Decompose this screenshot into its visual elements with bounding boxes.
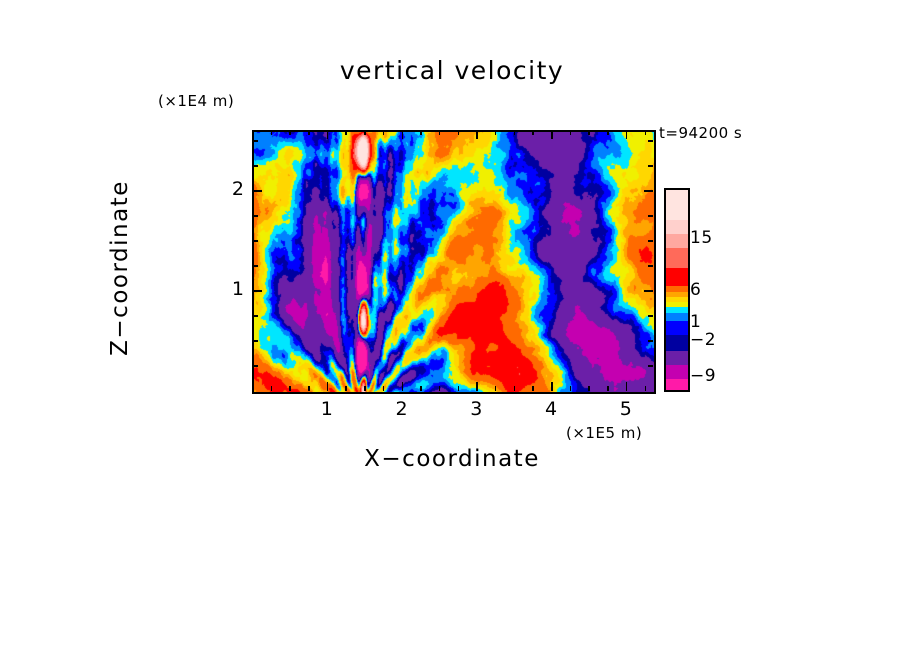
tick-mark xyxy=(532,386,534,391)
colorbar-tick-label: 15 xyxy=(690,228,713,248)
tick-mark xyxy=(253,340,258,342)
tick-mark xyxy=(626,382,628,391)
x-axis-title: X−coordinate xyxy=(252,446,652,472)
tick-mark xyxy=(644,190,653,192)
contour-plot-area xyxy=(252,130,656,394)
colorbar-band xyxy=(666,190,688,220)
tick-mark xyxy=(458,130,460,135)
tick-mark xyxy=(648,215,653,217)
tick-mark xyxy=(253,140,258,142)
tick-mark xyxy=(253,315,258,317)
tick-mark xyxy=(570,130,572,135)
tick-mark xyxy=(607,386,609,391)
tick-mark xyxy=(648,240,653,242)
tick-mark xyxy=(253,190,262,192)
tick-mark xyxy=(648,340,653,342)
colorbar-band xyxy=(666,335,688,351)
tick-mark xyxy=(327,130,329,139)
velocity-field-canvas xyxy=(254,132,654,392)
y-tick-label: 2 xyxy=(204,178,244,200)
tick-mark xyxy=(345,130,347,135)
x-tick-label: 5 xyxy=(606,398,646,420)
tick-mark xyxy=(570,386,572,391)
x-tick-label: 2 xyxy=(382,398,422,420)
colorbar-band xyxy=(666,268,688,286)
tick-mark xyxy=(551,130,553,139)
tick-mark xyxy=(327,382,329,391)
tick-mark xyxy=(364,386,366,391)
tick-mark xyxy=(308,386,310,391)
colorbar-band xyxy=(666,321,688,335)
x-axis-units: (×1E5 m) xyxy=(566,424,642,442)
tick-mark xyxy=(253,165,258,167)
tick-mark xyxy=(648,165,653,167)
colorbar-band xyxy=(666,220,688,234)
tick-mark xyxy=(588,386,590,391)
tick-mark xyxy=(271,130,273,135)
tick-mark xyxy=(648,315,653,317)
tick-mark xyxy=(271,386,273,391)
tick-mark xyxy=(514,130,516,135)
tick-mark xyxy=(364,130,366,135)
tick-mark xyxy=(253,290,262,292)
tick-mark xyxy=(648,265,653,267)
colorbar xyxy=(664,188,690,392)
colorbar-band xyxy=(666,234,688,248)
colorbar-band xyxy=(666,365,688,379)
tick-mark xyxy=(383,130,385,135)
tick-mark xyxy=(476,382,478,391)
tick-mark xyxy=(588,130,590,135)
tick-mark xyxy=(495,130,497,135)
x-tick-label: 3 xyxy=(456,398,496,420)
colorbar-band xyxy=(666,379,688,390)
tick-mark xyxy=(495,386,497,391)
z-axis-units: (×1E4 m) xyxy=(158,92,234,110)
page-title: vertical velocity xyxy=(0,56,904,85)
tick-mark xyxy=(253,240,258,242)
colorbar-band xyxy=(666,351,688,365)
time-annotation: t=94200 s xyxy=(659,124,742,142)
tick-mark xyxy=(289,130,291,135)
tick-mark xyxy=(514,386,516,391)
tick-mark xyxy=(345,386,347,391)
tick-mark xyxy=(439,386,441,391)
tick-mark xyxy=(439,130,441,135)
tick-mark xyxy=(420,130,422,135)
tick-mark xyxy=(253,215,258,217)
tick-mark xyxy=(402,382,404,391)
tick-mark xyxy=(551,382,553,391)
tick-mark xyxy=(383,386,385,391)
tick-mark xyxy=(458,386,460,391)
colorbar-tick-label: −9 xyxy=(690,366,716,386)
tick-mark xyxy=(648,140,653,142)
tick-mark xyxy=(607,130,609,135)
tick-mark xyxy=(308,130,310,135)
tick-mark xyxy=(420,386,422,391)
tick-mark xyxy=(648,365,653,367)
tick-mark xyxy=(532,130,534,135)
tick-mark xyxy=(644,290,653,292)
colorbar-tick-label: 6 xyxy=(690,280,701,300)
colorbar-band xyxy=(666,248,688,268)
tick-mark xyxy=(253,265,258,267)
colorbar-band xyxy=(666,313,688,321)
tick-mark xyxy=(476,130,478,139)
tick-mark xyxy=(253,365,258,367)
x-tick-label: 4 xyxy=(531,398,571,420)
tick-mark xyxy=(645,386,647,391)
tick-mark xyxy=(626,130,628,139)
y-tick-label: 1 xyxy=(204,278,244,300)
y-axis-title: Z−coordinate xyxy=(107,138,133,398)
x-tick-label: 1 xyxy=(307,398,347,420)
tick-mark xyxy=(289,386,291,391)
tick-mark xyxy=(645,130,647,135)
colorbar-tick-label: 1 xyxy=(690,312,701,332)
tick-mark xyxy=(402,130,404,139)
colorbar-tick-label: −2 xyxy=(690,330,716,350)
